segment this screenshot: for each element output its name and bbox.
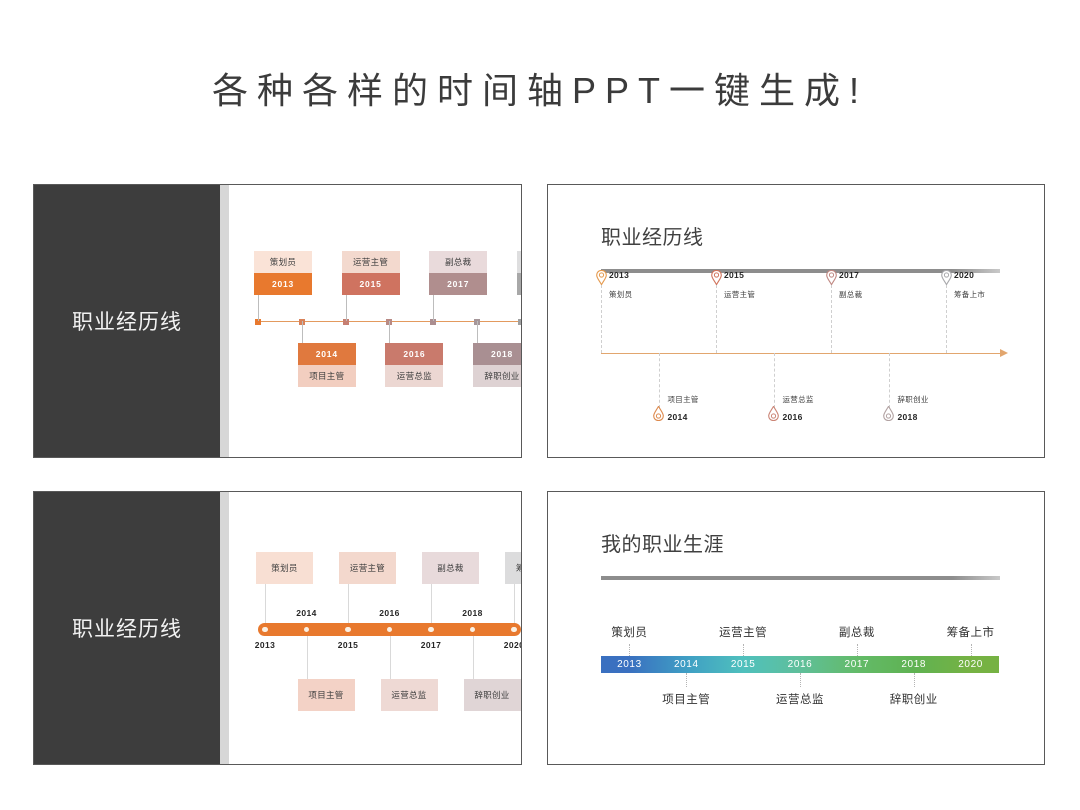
- slide-2-bottom-connector: [889, 353, 890, 408]
- slide-2-top-connector: [831, 285, 832, 353]
- slide-deck-overview: 各种各样的时间轴PPT一键生成! 职业经历线 策划员2013运营主管2015副总…: [0, 0, 1080, 810]
- slide-4[interactable]: 我的职业生涯 2013201420152016201720182020 策划员运…: [547, 491, 1045, 765]
- slide-1-top-role-box[interactable]: 策划员: [254, 251, 312, 273]
- slide-2-top-connector: [946, 285, 947, 353]
- slide-4-bottom-role: 运营总监: [776, 691, 824, 707]
- slide-4-top-connector: [743, 644, 744, 656]
- slide-1-top-year-box[interactable]: 2015: [342, 273, 400, 295]
- slide-1-bottom-stem: [302, 321, 303, 343]
- slide-3-panel-title: 职业经历线: [34, 613, 220, 643]
- slide-2-top-connector: [601, 285, 602, 353]
- slide-3-bar-dot: [511, 627, 516, 632]
- slide-2-top-year: 2013: [609, 270, 629, 280]
- slide-3-year-below: 2013: [251, 640, 279, 650]
- slide-1-bottom-year-box[interactable]: 2016: [385, 343, 443, 365]
- slide-2-bottom-connector: [774, 353, 775, 408]
- slide-1-bottom-year-box[interactable]: 2014: [298, 343, 356, 365]
- slide-4-bottom-connector: [914, 673, 915, 687]
- slide-3-top-role-box[interactable]: 副总裁: [422, 552, 479, 584]
- slide-3-year-below: 2020: [500, 640, 522, 650]
- slide-3-top-stem: [431, 584, 432, 623]
- slide-2-top-year: 2017: [839, 270, 859, 280]
- slide-3-bottom-stem: [307, 636, 308, 679]
- slide-4-bottom-role: 项目主管: [662, 691, 710, 707]
- slide-2-top-role: 筹备上市: [954, 289, 985, 300]
- slide-3-bottom-role-box[interactable]: 项目主管: [298, 679, 355, 711]
- slide-3-timeline: 2013201520172020201420162018策划员运营主管副总裁筹备…: [229, 492, 521, 764]
- slide-1-bottom-year-box[interactable]: 2018: [473, 343, 522, 365]
- map-pin-icon: [768, 406, 779, 421]
- slide-4-top-role: 筹备上市: [947, 624, 995, 640]
- slide-4-timeline: 2013201420152016201720182020 策划员运营主管副总裁筹…: [548, 492, 1044, 764]
- slide-4-bottom-connector: [800, 673, 801, 687]
- slide-1-bottom-role-box[interactable]: 辞职创业: [473, 365, 522, 387]
- slide-2-bottom-role: 项目主管: [668, 394, 699, 405]
- slide-4-year-segment[interactable]: 2017: [828, 656, 885, 673]
- slide-2-top-role: 策划员: [609, 289, 632, 300]
- slide-4-year-segment[interactable]: 2014: [658, 656, 715, 673]
- slide-3-year-above: 2016: [376, 608, 404, 618]
- slide-2-top-role: 运营主管: [724, 289, 755, 300]
- slide-2[interactable]: 职业经历线 2013策划员2015运营主管2017副总裁2020筹备上市2014…: [547, 184, 1045, 458]
- slide-3[interactable]: 职业经历线 2013201520172020201420162018策划员运营主…: [33, 491, 522, 765]
- slide-1-top-stem: [346, 295, 347, 321]
- slide-1-timeline: 策划员2013运营主管2015副总裁2017筹备上市20202014项目主管20…: [229, 185, 521, 457]
- map-pin-icon: [826, 270, 837, 285]
- slide-2-bottom-year: 2018: [898, 412, 918, 422]
- slide-3-year-below: 2015: [334, 640, 362, 650]
- slide-1-panel-strip: [220, 185, 229, 457]
- slide-2-top-year: 2020: [954, 270, 974, 280]
- slide-1-top-year-box[interactable]: 2017: [429, 273, 487, 295]
- slide-3-bottom-role-box[interactable]: 辞职创业: [464, 679, 521, 711]
- slide-1-top-year-box[interactable]: 2013: [254, 273, 312, 295]
- slide-3-year-below: 2017: [417, 640, 445, 650]
- slide-2-bottom-connector: [659, 353, 660, 408]
- slide-1-top-stem: [433, 295, 434, 321]
- slide-4-top-connector: [629, 644, 630, 656]
- slide-3-year-above: 2014: [293, 608, 321, 618]
- slide-2-bottom-role: 运营总监: [783, 394, 814, 405]
- slide-2-axis-arrowhead: [1000, 349, 1008, 357]
- slide-2-top-year: 2015: [724, 270, 744, 280]
- slide-1-top-role-box[interactable]: 运营主管: [342, 251, 400, 273]
- slide-3-bottom-stem: [473, 636, 474, 679]
- slide-4-top-role: 运营主管: [719, 624, 767, 640]
- map-pin-icon: [596, 270, 607, 285]
- slide-1[interactable]: 职业经历线 策划员2013运营主管2015副总裁2017筹备上市20202014…: [33, 184, 522, 458]
- slide-1-top-role-box[interactable]: 筹备上市: [517, 251, 522, 273]
- slide-2-axis-line: [601, 353, 1003, 354]
- slide-4-top-role: 策划员: [611, 624, 647, 640]
- slide-4-top-connector: [857, 644, 858, 656]
- slide-1-panel-title: 职业经历线: [34, 306, 220, 336]
- slide-2-bottom-year: 2014: [668, 412, 688, 422]
- slide-2-bottom-year: 2016: [783, 412, 803, 422]
- slide-4-year-segment[interactable]: 2020: [942, 656, 999, 673]
- slide-3-year-above: 2018: [459, 608, 487, 618]
- slide-1-bottom-role-box[interactable]: 运营总监: [385, 365, 443, 387]
- slide-3-top-stem: [348, 584, 349, 623]
- slide-3-bar-dot: [345, 627, 350, 632]
- map-pin-icon: [711, 270, 722, 285]
- slide-4-top-connector: [971, 644, 972, 656]
- map-pin-icon: [653, 406, 664, 421]
- slide-3-bottom-role-box[interactable]: 运营总监: [381, 679, 438, 711]
- slide-1-top-role-box[interactable]: 副总裁: [429, 251, 487, 273]
- slide-4-year-segment[interactable]: 2016: [772, 656, 829, 673]
- slide-4-bottom-connector: [686, 673, 687, 687]
- slide-3-top-stem: [514, 584, 515, 623]
- slide-3-top-role-box[interactable]: 运营主管: [339, 552, 396, 584]
- slide-1-top-year-box[interactable]: 2020: [517, 273, 522, 295]
- slide-3-bottom-stem: [390, 636, 391, 679]
- slide-3-top-role-box[interactable]: 策划员: [256, 552, 313, 584]
- slide-4-bottom-role: 辞职创业: [890, 691, 938, 707]
- slide-3-bar-dot: [262, 627, 267, 632]
- slide-2-top-role: 副总裁: [839, 289, 862, 300]
- slide-1-top-stem: [521, 295, 522, 321]
- slide-4-year-segment[interactable]: 2015: [715, 656, 772, 673]
- slide-1-bottom-stem: [389, 321, 390, 343]
- map-pin-icon: [883, 406, 894, 421]
- slide-4-year-segment[interactable]: 2013: [601, 656, 658, 673]
- slide-4-year-segment[interactable]: 2018: [885, 656, 942, 673]
- slide-4-gradient-bar: 2013201420152016201720182020: [601, 656, 999, 673]
- slide-1-top-stem: [258, 295, 259, 321]
- slide-2-bottom-role: 辞职创业: [898, 394, 929, 405]
- slide-2-top-connector: [716, 285, 717, 353]
- slide-1-bottom-role-box[interactable]: 项目主管: [298, 365, 356, 387]
- slide-1-bottom-stem: [477, 321, 478, 343]
- slide-4-top-role: 副总裁: [839, 624, 875, 640]
- slide-3-panel-strip: [220, 492, 229, 764]
- map-pin-icon: [941, 270, 952, 285]
- page-title: 各种各样的时间轴PPT一键生成!: [0, 62, 1080, 114]
- slide-3-top-role-box[interactable]: 筹备上市: [505, 552, 522, 584]
- slide-2-timeline: 2013策划员2015运营主管2017副总裁2020筹备上市2014项目主管20…: [548, 185, 1044, 457]
- slide-3-bar-dot: [428, 627, 433, 632]
- slide-3-top-stem: [265, 584, 266, 623]
